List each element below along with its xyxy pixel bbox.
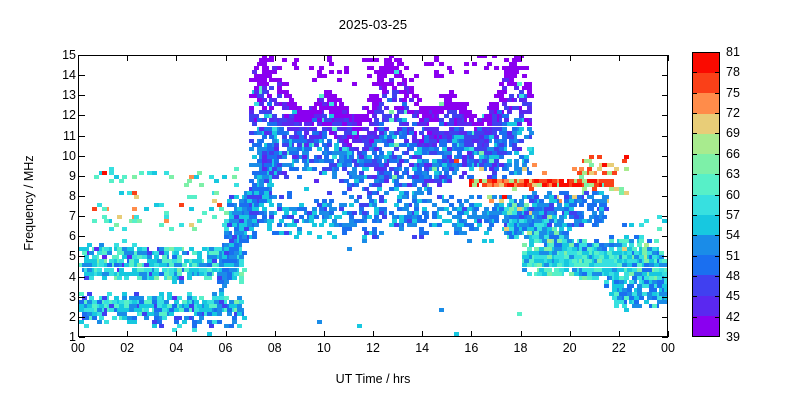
scatter-point: [197, 219, 202, 223]
scatter-point: [462, 207, 467, 211]
scatter-point: [269, 122, 274, 126]
scatter-point: [217, 312, 222, 316]
scatter-point: [317, 235, 322, 239]
scatter-point: [409, 131, 414, 135]
scatter-point: [582, 179, 587, 183]
scatter-point: [194, 259, 199, 263]
scatter-point: [522, 167, 527, 171]
scatter-point: [337, 70, 342, 74]
scatter-point: [319, 159, 324, 163]
scatter-point: [394, 183, 399, 187]
scatter-point: [394, 203, 399, 207]
scatter-point: [477, 223, 482, 227]
scatter-point: [312, 110, 317, 114]
scatter-point: [384, 175, 389, 179]
scatter-point: [459, 175, 464, 179]
scatter-point: [287, 223, 292, 227]
scatter-point: [114, 223, 119, 227]
scatter-point: [107, 292, 112, 296]
ionogram-figure: 2025-03-25 15141312111098765432100020406…: [0, 0, 800, 400]
scatter-point: [384, 179, 389, 183]
scatter-point: [224, 251, 229, 255]
scatter-point: [102, 171, 107, 175]
scatter-point: [264, 66, 269, 70]
scatter-point: [399, 159, 404, 163]
scatter-point: [252, 219, 257, 223]
scatter-point: [322, 211, 327, 215]
scatter-point: [359, 159, 364, 163]
scatter-point: [449, 167, 454, 171]
scatter-point: [282, 207, 287, 211]
scatter-point: [569, 179, 574, 183]
scatter-point: [317, 155, 322, 159]
scatter-point: [274, 147, 279, 151]
scatter-point: [389, 159, 394, 163]
scatter-point: [389, 143, 394, 147]
scatter-point: [392, 215, 397, 219]
scatter-point: [124, 251, 129, 255]
scatter-point: [492, 163, 497, 167]
scatter-point: [247, 199, 252, 203]
scatter-point: [304, 110, 309, 114]
scatter-point: [159, 324, 164, 328]
scatter-point: [472, 139, 477, 143]
scatter-point: [399, 143, 404, 147]
scatter-point: [469, 195, 474, 199]
scatter-point: [199, 183, 204, 187]
scatter-point: [232, 276, 237, 280]
scatter-point: [249, 131, 254, 135]
scatter-point: [429, 151, 434, 155]
scatter-point: [279, 127, 284, 131]
scatter-point: [244, 215, 249, 219]
scatter-point: [144, 316, 149, 320]
scatter-point: [172, 280, 177, 284]
scatter-point: [372, 219, 377, 223]
scatter-point: [239, 255, 244, 259]
scatter-point: [602, 171, 607, 175]
scatter-point: [312, 78, 317, 82]
scatter-point: [172, 304, 177, 308]
scatter-point: [514, 106, 519, 110]
scatter-point: [114, 175, 119, 179]
scatter-point: [487, 227, 492, 231]
scatter-point: [112, 316, 117, 320]
scatter-point: [324, 215, 329, 219]
scatter-point: [472, 211, 477, 215]
scatter-point: [407, 211, 412, 215]
scatter-point: [187, 276, 192, 280]
scatter-point: [339, 203, 344, 207]
scatter-point: [274, 175, 279, 179]
scatter-point: [309, 66, 314, 70]
scatter-point: [132, 207, 137, 211]
scatter-point: [424, 231, 429, 235]
scatter-point: [377, 78, 382, 82]
scatter-point: [389, 118, 394, 122]
scatter-point: [304, 187, 309, 191]
scatter-point: [372, 175, 377, 179]
scatter-point: [174, 300, 179, 304]
scatter-point: [442, 199, 447, 203]
scatter-point: [409, 163, 414, 167]
scatter-point: [124, 263, 129, 267]
scatter-point: [564, 183, 569, 187]
scatter-point: [267, 58, 272, 62]
scatter-point: [314, 139, 319, 143]
scatter-point: [359, 155, 364, 159]
scatter-point: [209, 175, 214, 179]
scatter-point: [432, 167, 437, 171]
scatter-point: [239, 276, 244, 280]
scatter-point: [362, 211, 367, 215]
scatter-point: [484, 207, 489, 211]
scatter-point: [404, 167, 409, 171]
scatter-point: [252, 122, 257, 126]
scatter-point: [467, 215, 472, 219]
scatter-point: [179, 276, 184, 280]
scatter-point: [467, 131, 472, 135]
scatter-point: [159, 272, 164, 276]
scatter-point: [249, 163, 254, 167]
scatter-point: [409, 78, 414, 82]
scatter-point: [307, 147, 312, 151]
scatter-point: [517, 131, 522, 135]
scatter-point: [572, 183, 577, 187]
scatter-point: [102, 251, 107, 255]
scatter-point: [524, 110, 529, 114]
scatter-point: [499, 199, 504, 203]
scatter-point: [239, 227, 244, 231]
scatter-point: [269, 118, 274, 122]
scatter-point: [347, 187, 352, 191]
scatter-point: [407, 183, 412, 187]
scatter-point: [252, 231, 257, 235]
scatter-point: [364, 106, 369, 110]
scatter-point: [297, 175, 302, 179]
scatter-point: [377, 82, 382, 86]
scatter-point: [144, 263, 149, 267]
scatter-point: [509, 78, 514, 82]
scatter-point: [519, 139, 524, 143]
scatter-point: [402, 131, 407, 135]
scatter-point: [87, 304, 92, 308]
scatter-point: [87, 292, 92, 296]
scatter-point: [507, 163, 512, 167]
scatter-point: [322, 122, 327, 126]
scatter-point: [502, 86, 507, 90]
scatter-point: [219, 288, 224, 292]
scatter-point: [424, 167, 429, 171]
scatter-point: [129, 263, 134, 267]
scatter-point: [102, 276, 107, 280]
scatter-point: [452, 215, 457, 219]
scatter-point: [239, 259, 244, 263]
scatter-point: [207, 272, 212, 276]
scatter-point: [79, 320, 84, 324]
scatter-point: [352, 122, 357, 126]
scatter-point: [269, 211, 274, 215]
scatter-point: [454, 135, 459, 139]
scatter-point: [367, 195, 372, 199]
scatter-point: [237, 324, 242, 328]
scatter-point: [344, 106, 349, 110]
scatter-point: [367, 74, 372, 78]
scatter-point: [384, 106, 389, 110]
scatter-point: [254, 66, 259, 70]
scatter-point: [257, 171, 262, 175]
scatter-point: [294, 167, 299, 171]
scatter-point: [92, 219, 97, 223]
scatter-point: [319, 223, 324, 227]
scatter-point: [454, 127, 459, 131]
scatter-point: [352, 167, 357, 171]
scatter-point: [207, 312, 212, 316]
scatter-point: [147, 312, 152, 316]
scatter-point: [332, 207, 337, 211]
scatter-point: [422, 122, 427, 126]
scatter-point: [264, 187, 269, 191]
scatter-point: [552, 183, 557, 187]
scatter-point: [147, 268, 152, 272]
scatter-point: [394, 187, 399, 191]
scatter-point: [164, 300, 169, 304]
scatter-point: [272, 70, 277, 74]
scatter-point: [102, 207, 107, 211]
scatter-point: [404, 139, 409, 143]
scatter-point: [262, 70, 267, 74]
scatter-point: [587, 179, 592, 183]
scatter-point: [349, 203, 354, 207]
scatter-point: [337, 98, 342, 102]
scatter-point: [129, 247, 134, 251]
scatter-point: [184, 308, 189, 312]
scatter-point: [124, 300, 129, 304]
scatter-point: [327, 143, 332, 147]
scatter-point: [277, 94, 282, 98]
scatter-point: [379, 199, 384, 203]
scatter-point: [177, 247, 182, 251]
scatter-point: [349, 155, 354, 159]
scatter-point: [267, 159, 272, 163]
scatter-point: [389, 70, 394, 74]
scatter-point: [372, 227, 377, 231]
scatter-point: [414, 191, 419, 195]
scatter-point: [277, 155, 282, 159]
scatter-point: [364, 187, 369, 191]
scatter-point: [347, 143, 352, 147]
scatter-point: [379, 151, 384, 155]
scatter-point: [322, 74, 327, 78]
scatter-point: [357, 122, 362, 126]
scatter-point: [84, 272, 89, 276]
scatter-point: [322, 171, 327, 175]
scatter-point: [229, 304, 234, 308]
scatter-point: [239, 239, 244, 243]
scatter-point: [374, 98, 379, 102]
scatter-point: [279, 118, 284, 122]
scatter-point: [372, 203, 377, 207]
scatter-point: [412, 122, 417, 126]
scatter-point: [379, 127, 384, 131]
scatter-point: [342, 227, 347, 231]
scatter-point: [344, 118, 349, 122]
scatter-point: [439, 175, 444, 179]
scatter-point: [529, 131, 534, 135]
scatter-point: [399, 219, 404, 223]
scatter-point: [607, 171, 612, 175]
scatter-point: [312, 118, 317, 122]
scatter-point: [84, 324, 89, 328]
scatter-point: [114, 263, 119, 267]
scatter-point: [189, 207, 194, 211]
scatter-point: [532, 163, 537, 167]
scatter-point: [312, 223, 317, 227]
scatter-point: [322, 131, 327, 135]
scatter-point: [519, 94, 524, 98]
scatter-point: [382, 215, 387, 219]
scatter-point: [254, 203, 259, 207]
scatter-point: [457, 223, 462, 227]
scatter-point: [467, 114, 472, 118]
scatter-point: [507, 66, 512, 70]
scatter-point: [444, 207, 449, 211]
scatter-point: [289, 122, 294, 126]
scatter-point: [229, 247, 234, 251]
scatter-point: [179, 223, 184, 227]
scatter-point: [399, 74, 404, 78]
scatter-point: [479, 122, 484, 126]
scatter-point: [317, 135, 322, 139]
scatter-point: [377, 187, 382, 191]
scatter-point: [164, 215, 169, 219]
scatter-point: [319, 66, 324, 70]
scatter-point: [352, 211, 357, 215]
scatter-point: [234, 167, 239, 171]
scatter-point: [264, 131, 269, 135]
scatter-point: [397, 62, 402, 66]
scatter-point: [267, 147, 272, 151]
scatter-point: [419, 235, 424, 239]
scatter-point: [437, 106, 442, 110]
scatter-point: [484, 114, 489, 118]
scatter-point: [464, 110, 469, 114]
scatter-point: [209, 324, 214, 328]
scatter-point: [119, 179, 124, 183]
scatter-point: [304, 143, 309, 147]
scatter-point: [382, 139, 387, 143]
scatter-point: [342, 143, 347, 147]
scatter-point: [424, 62, 429, 66]
scatter-point: [489, 215, 494, 219]
scatter-point: [229, 324, 234, 328]
scatter-point: [289, 167, 294, 171]
scatter-point: [87, 268, 92, 272]
scatter-point: [362, 203, 367, 207]
scatter-point: [294, 219, 299, 223]
scatter-point: [424, 106, 429, 110]
scatter-point: [139, 171, 144, 175]
scatter-point: [484, 139, 489, 143]
scatter-point: [97, 308, 102, 312]
scatter-point: [302, 155, 307, 159]
scatter-point: [424, 139, 429, 143]
scatter-point: [482, 56, 487, 58]
scatter-point: [462, 163, 467, 167]
scatter-point: [447, 147, 452, 151]
scatter-point: [404, 191, 409, 195]
scatter-point: [132, 175, 137, 179]
scatter-point: [527, 171, 532, 175]
scatter-point: [542, 171, 547, 175]
scatter-point: [97, 320, 102, 324]
scatter-point: [504, 106, 509, 110]
scatter-point: [379, 122, 384, 126]
scatter-point: [259, 102, 264, 106]
scatter-point: [372, 131, 377, 135]
scatter-point: [517, 122, 522, 126]
scatter-point: [374, 110, 379, 114]
scatter-point: [169, 175, 174, 179]
scatter-point: [384, 143, 389, 147]
scatter-point: [502, 167, 507, 171]
scatter-point: [374, 122, 379, 126]
scatter-point: [404, 203, 409, 207]
scatter-point: [472, 183, 477, 187]
scatter-point: [439, 122, 444, 126]
scatter-point: [384, 62, 389, 66]
scatter-point: [327, 118, 332, 122]
scatter-point: [327, 191, 332, 195]
scatter-point: [417, 155, 422, 159]
scatter-point: [262, 151, 267, 155]
scatter-point: [152, 259, 157, 263]
scatter-point: [507, 98, 512, 102]
scatter-point: [129, 308, 134, 312]
scatter-point: [257, 175, 262, 179]
scatter-point: [622, 159, 627, 163]
scatter-point: [197, 171, 202, 175]
scatter-point: [299, 118, 304, 122]
scatter-point: [334, 215, 339, 219]
scatter-point: [284, 82, 289, 86]
scatter-point: [447, 155, 452, 159]
scatter-point: [207, 263, 212, 267]
scatter-point: [277, 223, 282, 227]
scatter-point: [422, 219, 427, 223]
scatter-point: [519, 179, 524, 183]
scatter-point: [307, 211, 312, 215]
scatter-point: [607, 163, 612, 167]
scatter-point: [359, 219, 364, 223]
scatter-point: [342, 135, 347, 139]
scatter-point: [214, 300, 219, 304]
scatter-point: [624, 167, 629, 171]
scatter-point: [104, 320, 109, 324]
scatter-point: [254, 187, 259, 191]
scatter-point: [399, 90, 404, 94]
scatter-point: [297, 131, 302, 135]
scatter-point: [137, 219, 142, 223]
scatter-point: [154, 276, 159, 280]
scatter-point: [337, 122, 342, 126]
scatter-point: [89, 272, 94, 276]
scatter-point: [419, 110, 424, 114]
scatter-point: [354, 135, 359, 139]
scatter-point: [414, 94, 419, 98]
scatter-point: [402, 122, 407, 126]
scatter-point: [177, 296, 182, 300]
